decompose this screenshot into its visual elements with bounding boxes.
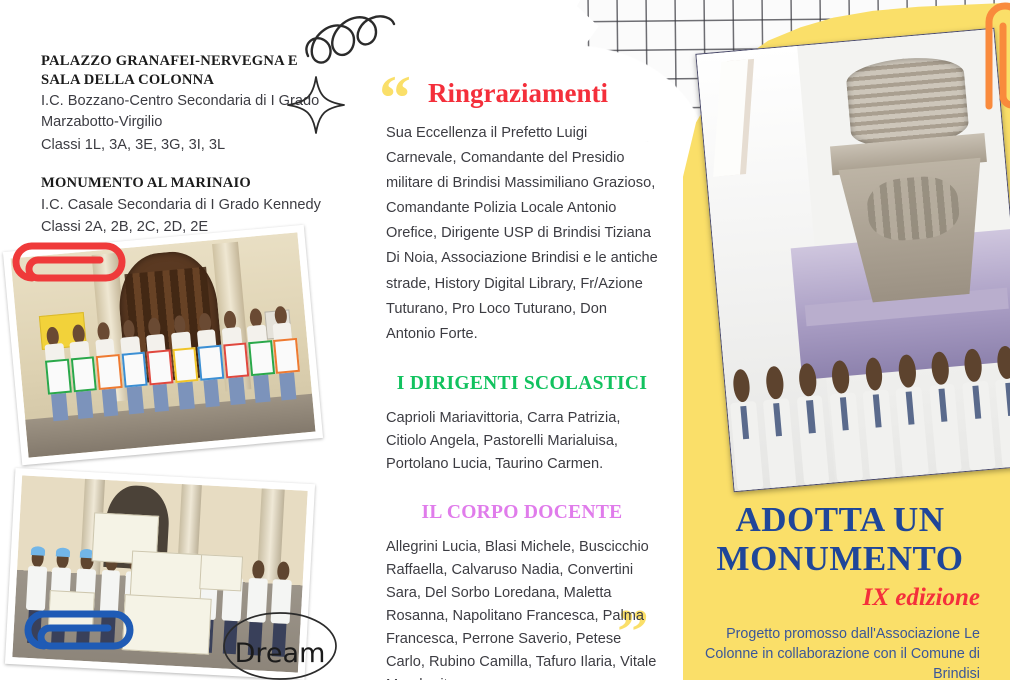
left-text-column: PALAZZO GRANAFEI-NERVEGNA E SALA DELLA C… (41, 52, 331, 238)
venue-classes-1: Classi 1L, 3A, 3E, 3G, 3I, 3L (41, 135, 331, 156)
venue-school-2: I.C. Casale Secondaria di I Grado Kenned… (41, 195, 331, 216)
principals-heading: I DIRIGENTI SCOLASTICI (386, 373, 658, 395)
thanks-body: Sua Eccellenza il Prefetto Luigi Carneva… (386, 121, 658, 347)
venue-title-2: MONUMENTO AL MARINAIO (41, 174, 331, 193)
principals-body: Caprioli Mariavittoria, Carra Patrizia, … (386, 407, 658, 476)
right-panel-text: ADOTTA UN MONUMENTO IX edizione Progetto… (700, 500, 996, 680)
photo-school-entrance (3, 225, 323, 465)
teachers-body: Allegrini Lucia, Blasi Michele, Buscicch… (386, 536, 658, 680)
venue-school-1: I.C. Bozzano-Centro Secondaria di I Grad… (41, 91, 331, 133)
teachers-heading: IL CORPO DOCENTE (386, 502, 658, 524)
brochure-title-line2: MONUMENTO (700, 539, 980, 578)
venue-title-1: PALAZZO GRANAFEI-NERVEGNA E SALA DELLA C… (41, 52, 331, 89)
brochure-page: PALAZZO GRANAFEI-NERVEGNA E SALA DELLA C… (0, 0, 1010, 680)
brochure-title-line1: ADOTTA UN (700, 500, 980, 539)
edition-label: IX edizione (700, 584, 980, 612)
project-subtitle: Progetto promosso dall'Associazione Le C… (700, 624, 980, 680)
photo-kids-posters (5, 468, 315, 680)
middle-text-column: Ringraziamenti Sua Eccellenza il Prefett… (386, 78, 658, 680)
photo-column-museum (695, 28, 1010, 492)
thanks-heading: Ringraziamenti (428, 78, 658, 109)
